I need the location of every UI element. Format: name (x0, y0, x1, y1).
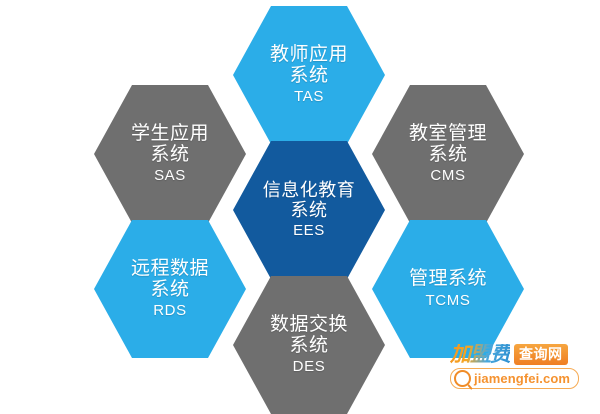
hex-label-line1: 管理系统 (409, 268, 487, 289)
hex-node-ees[interactable]: 信息化教育 系统 EES (233, 141, 385, 279)
hex-label-line1: 信息化教育 (263, 180, 356, 200)
hex-label-line2: 系统 (289, 65, 328, 86)
hex-node-tcms[interactable]: 管理系统 TCMS (372, 220, 524, 358)
hex-label-line2: 系统 (289, 335, 328, 356)
hex-label-line1: 数据交换 (270, 314, 348, 335)
search-icon (454, 370, 471, 387)
hex-abbr: TAS (294, 89, 324, 106)
hex-label-line1: 教室管理 (409, 123, 487, 144)
hex-abbr: RDS (153, 303, 186, 320)
watermark-brand: 加盟费 (450, 344, 510, 366)
hex-abbr: EES (293, 223, 325, 240)
watermark: 加盟费 查询网 jiamengfei.com (450, 342, 596, 388)
hex-label-line2: 系统 (150, 279, 189, 300)
hex-abbr: SAS (154, 168, 186, 185)
hex-label-line1: 教师应用 (270, 44, 348, 65)
hex-label-line2: 系统 (428, 144, 467, 165)
hexagon-diagram: 教师应用 系统 TAS 学生应用 系统 SAS 教室管理 系统 CMS 信息化教… (0, 0, 600, 400)
hex-node-rds[interactable]: 远程数据 系统 RDS (94, 220, 246, 358)
hex-node-sas[interactable]: 学生应用 系统 SAS (94, 85, 246, 223)
watermark-title-row: 加盟费 查询网 (450, 342, 596, 366)
hex-label-line2: 系统 (150, 144, 189, 165)
hex-abbr: CMS (430, 168, 465, 185)
hex-node-cms[interactable]: 教室管理 系统 CMS (372, 85, 524, 223)
hex-node-tas[interactable]: 教师应用 系统 TAS (233, 6, 385, 144)
watermark-domain: jiamengfei.com (474, 371, 570, 386)
watermark-badge: 查询网 (514, 344, 568, 365)
watermark-domain-pill: jiamengfei.com (450, 368, 579, 389)
hex-node-des[interactable]: 数据交换 系统 DES (233, 276, 385, 414)
hex-label-line1: 远程数据 (131, 258, 209, 279)
hex-abbr: DES (293, 359, 326, 376)
hex-abbr: TCMS (426, 293, 471, 310)
hex-label-line1: 学生应用 (131, 123, 209, 144)
hex-label-line2: 系统 (291, 200, 328, 220)
